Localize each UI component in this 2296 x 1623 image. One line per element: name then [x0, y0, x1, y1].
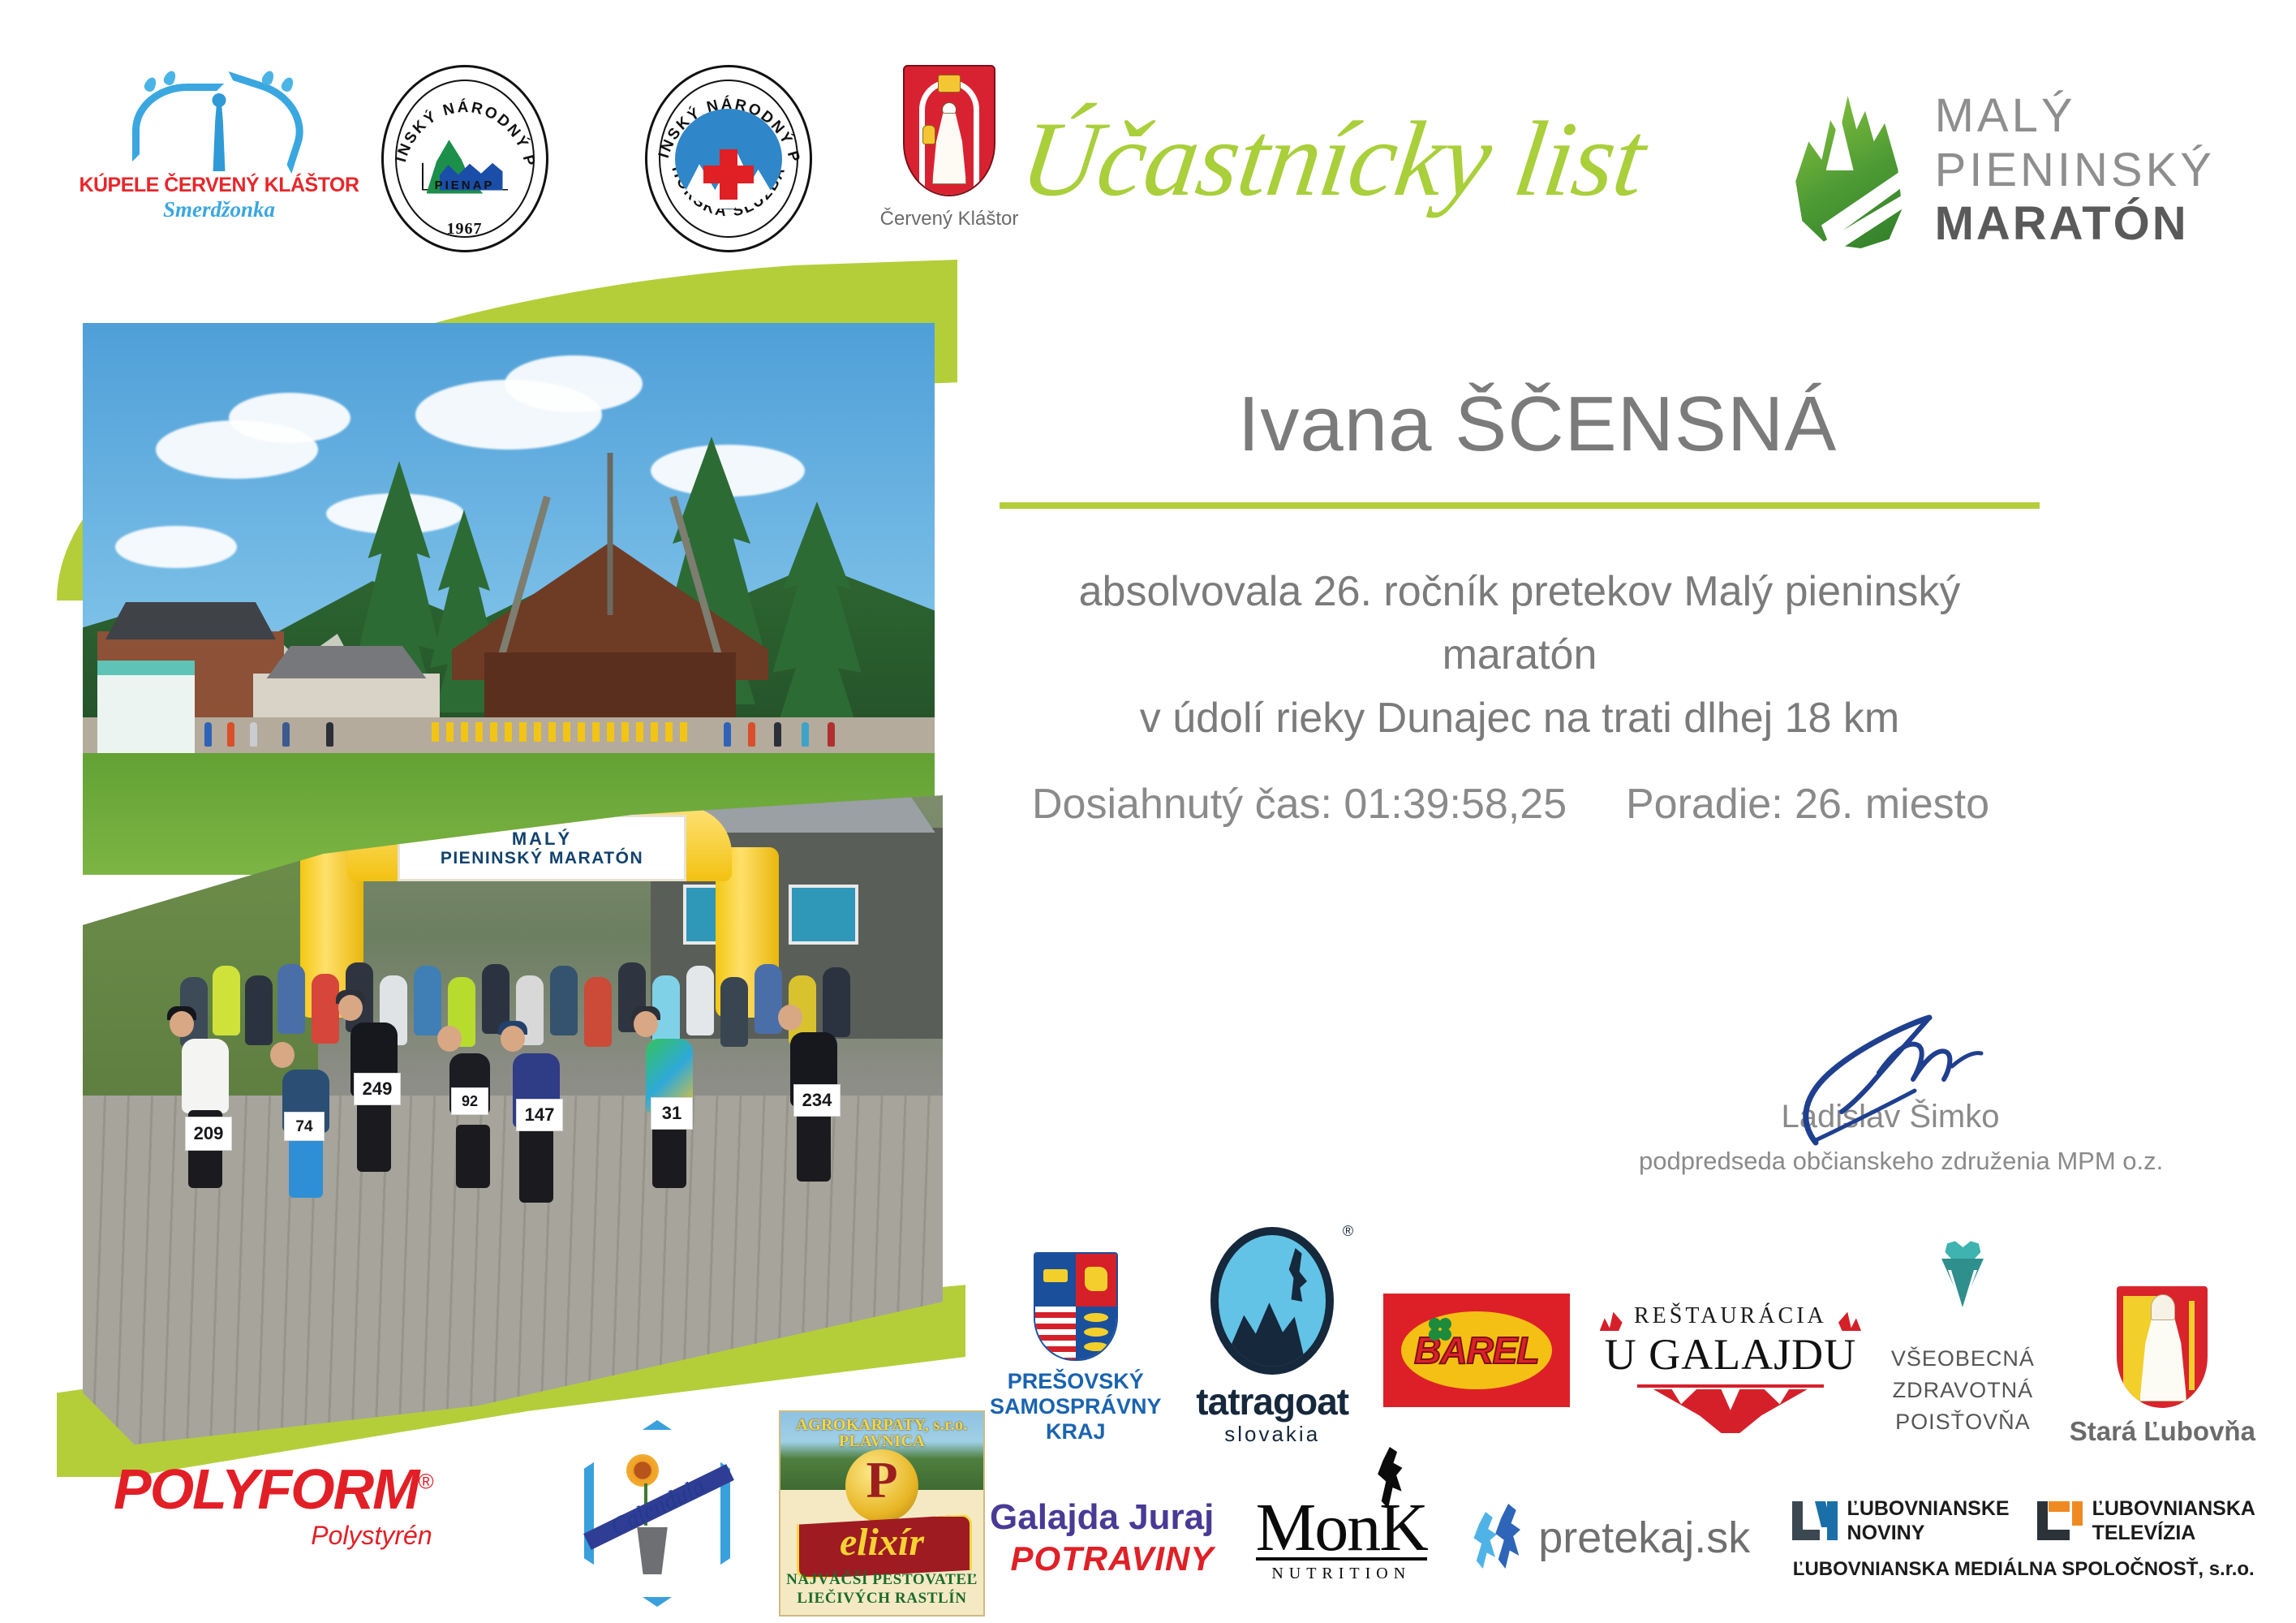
logo-agrokarpaty-elixir: AGROKARPATY, s.r.o. PLAVNICA P elixír NA…	[779, 1410, 985, 1617]
psk-coat-of-arms-icon	[1034, 1252, 1118, 1361]
polyform-wordmark: POLYFORM®	[114, 1461, 432, 1518]
logo-polyform: POLYFORM® Polystyrén	[114, 1461, 432, 1548]
logo-barel: BAREL	[1383, 1294, 1570, 1407]
folk-ornament-icon	[1653, 1389, 1808, 1433]
runner-bib: 31	[651, 1097, 693, 1130]
marigold-flower-icon	[626, 1454, 659, 1487]
lt-line2: TELEVÍZIA	[2092, 1521, 2255, 1545]
logo-lubovnianska-televizia: ĽUBOVNIANSKA TELEVÍZIA	[2037, 1496, 2255, 1545]
lt-line1: ĽUBOVNIANSKA	[2092, 1496, 2255, 1521]
u-galajdu-rule	[1637, 1384, 1824, 1388]
two-runners-icon	[1468, 1504, 1529, 1572]
runner-bib: 234	[793, 1084, 841, 1117]
sponsor-row-secondary: Galajda Juraj POTRAVINY MonK NUTRITION p…	[990, 1469, 2255, 1607]
registered-trademark-icon: ®	[1343, 1224, 1353, 1238]
logo-pieninsky-narodny-park: PIENINSKÝ NÁRODNÝ PARK PIENAP 1967	[377, 65, 552, 252]
arch-banner-line1: MALÝ	[512, 830, 572, 848]
logo-u-galajdu: REŠTAURÁCIA U GALAJDU	[1605, 1305, 1856, 1433]
event-brand-logo: MALÝ PIENINSKÝ MARATÓN	[1784, 89, 2215, 252]
cerveny-klastor-coat-of-arms-icon	[903, 65, 995, 196]
logo-cerveny-klastor-caption: Červený Kláštor	[880, 208, 1019, 230]
pienap-year: 1967	[447, 220, 483, 239]
photo-collage: MALÝ PIENINSKÝ MARATÓN	[65, 260, 941, 1412]
signature-block: Ladislav Šimko podpredseda občianskeho z…	[1639, 1006, 2142, 1176]
logo-kupele-line2: Smerdžonka	[163, 198, 275, 222]
result-summary: Dosiahnutý čas: 01:39:58,25 Poradie: 26.…	[1000, 779, 2070, 829]
sponsor-row-primary: PREŠOVSKÝ SAMOSPRÁVNY KRAJ ® tatragoat s…	[990, 1250, 2255, 1444]
vzp-chevron-heart-icon	[1902, 1241, 2023, 1337]
ln-wordmark: ĽUBOVNIANSKE NOVINY	[1847, 1496, 2010, 1545]
tatragoat-wordmark: tatragoat	[1196, 1383, 1348, 1420]
clover-icon	[1429, 1318, 1451, 1341]
runner-bib: 92	[451, 1087, 488, 1115]
statement-line-1: absolvovala 26. ročník pretekov Malý pie…	[1000, 560, 2040, 687]
agrokarpaty-footer-line1: NAJVÄČŠÍ PESTOVATEĽ	[786, 1571, 978, 1588]
recipient-name: Ivana ŠČENSNÁ	[1022, 381, 2053, 467]
runner-bib: 74	[284, 1112, 325, 1141]
bottom-left-sponsor-logos: POLYFORM® Polystyrén Calendula AGROKARPA…	[105, 1428, 982, 1607]
agrokarpaty-footer: NAJVÄČŠÍ PESTOVATEĽ LIEČIVÝCH RASTLÍN	[780, 1570, 983, 1609]
pretekaj-wordmark: pretekaj.sk	[1538, 1516, 1750, 1560]
vzp-wordmark: VŠEOBECNÁ ZDRAVOTNÁ POISŤOVŇA	[1891, 1343, 2035, 1438]
logo-horska-sluzba: PIENINSKÝ NÁRODNÝ PARK HORSKÁ SLUŽBA	[641, 65, 815, 252]
stara-lubovna-coat-of-arms-icon	[2117, 1286, 2208, 1408]
certificate-statement: absolvovala 26. ročník pretekov Malý pie…	[1000, 560, 2040, 750]
u-galajdu-line2: U GALAJDU	[1605, 1332, 1856, 1376]
logo-tatragoat: ® tatragoat slovakia	[1196, 1227, 1348, 1444]
logo-pretekaj-sk: pretekaj.sk	[1468, 1504, 1750, 1572]
certificate-header: Účastnícky list MALÝ PIENINSKÝ MARATÓN	[1022, 89, 2239, 268]
logo-vseobecna-zdravotna-poistovna: VŠEOBECNÁ ZDRAVOTNÁ POISŤOVŇA	[1891, 1241, 2035, 1438]
u-galajdu-line1: REŠTAURÁCIA	[1634, 1305, 1827, 1328]
lt-wordmark: ĽUBOVNIANSKA TELEVÍZIA	[2092, 1496, 2255, 1545]
mountain-leaf-icon	[1784, 89, 1914, 252]
monk-wordmark: MonK	[1256, 1494, 1427, 1562]
monk-subtitle: NUTRITION	[1271, 1565, 1411, 1582]
logo-lubovnianska-medialna: ĽUBOVNIANSKE NOVINY ĽUBOVNIANSKA TELEVÍZ…	[1792, 1496, 2255, 1579]
lubovnianska-medialna-footer: ĽUBOVNIANSKA MEDIÁLNA SPOLOČNOSŤ, s.r.o.	[1793, 1560, 2255, 1579]
psk-line1: PREŠOVSKÝ	[990, 1369, 1162, 1394]
horska-sluzba-seal-icon: PIENINSKÝ NÁRODNÝ PARK HORSKÁ SLUŽBA	[645, 65, 812, 252]
signatory-role: podpredseda občianskeho združenia MPM o.…	[1639, 1146, 2142, 1176]
agrokarpaty-footer-line2: LIEČIVÝCH RASTLÍN	[797, 1590, 966, 1607]
runner-bib: 147	[516, 1099, 563, 1131]
stara-lubovna-wordmark: Stará Ľubovňa	[2070, 1418, 2255, 1444]
logo-galajda-juraj: Galajda Juraj POTRAVINY	[990, 1500, 1214, 1576]
ln-line2: NOVINY	[1847, 1521, 2010, 1545]
runner-bib: 249	[354, 1073, 401, 1105]
statement-line-2: v údolí rieky Dunajec na trati dlhej 18 …	[1000, 687, 2040, 750]
pienap-badge-label: PIENAP	[422, 179, 508, 192]
barel-badge: BAREL	[1383, 1294, 1570, 1407]
elixir-wordmark: elixír	[797, 1519, 967, 1566]
goat-mountain-icon	[1210, 1227, 1334, 1375]
vzp-line1: VŠEOBECNÁ	[1891, 1343, 2035, 1375]
galajda-line2: POTRAVINY	[1010, 1542, 1214, 1576]
galajda-line1: Galajda Juraj	[990, 1500, 1214, 1535]
brand-line-1: MALÝ	[1935, 92, 2215, 141]
logo-kupele-cerveny-klastor: KÚPELE ČERVENÝ KLÁŠTOR Smerdžonka	[89, 69, 349, 222]
registered-trademark-icon: ®	[418, 1470, 432, 1494]
fountain-figure-icon	[118, 69, 320, 174]
logo-kupele-line1: KÚPELE ČERVENÝ KLÁŠTOR	[79, 174, 359, 196]
rank-value: Poradie: 26. miesto	[1626, 779, 2070, 829]
lt-screen-icon	[2037, 1501, 2083, 1540]
psk-line2: SAMOSPRÁVNY	[990, 1394, 1162, 1419]
arch-banner-line2: PIENINSKÝ MARATÓN	[441, 850, 643, 867]
ln-line1: ĽUBOVNIANSKE	[1847, 1496, 2010, 1521]
page-title: Účastnícky list	[1015, 105, 1651, 213]
vzp-line3: POISŤOVŇA	[1891, 1406, 2035, 1438]
psk-wordmark: PREŠOVSKÝ SAMOSPRÁVNY KRAJ	[990, 1369, 1162, 1444]
title-divider	[1000, 502, 2040, 509]
logo-lubovnianske-noviny: ĽUBOVNIANSKE NOVINY	[1792, 1496, 2010, 1545]
logo-presovsky-samospravny-kraj: PREŠOVSKÝ SAMOSPRÁVNY KRAJ	[990, 1252, 1162, 1444]
pienap-seal-icon: PIENINSKÝ NÁRODNÝ PARK PIENAP 1967	[381, 65, 548, 252]
partner-logos-strip: KÚPELE ČERVENÝ KLÁŠTOR Smerdžonka PIENIN…	[89, 65, 990, 252]
ln-monogram-icon	[1792, 1501, 1838, 1540]
logo-cerveny-klastor: Červený Kláštor	[868, 65, 1030, 230]
brand-line-2: PIENINSKÝ	[1935, 146, 2215, 196]
photo-amphitheatre	[83, 323, 935, 875]
logo-stara-lubovna: Stará Ľubovňa	[2070, 1286, 2255, 1444]
psk-line3: KRAJ	[990, 1419, 1162, 1444]
handwritten-signature-icon	[1639, 1006, 2142, 1136]
brand-line-3: MARATÓN	[1935, 200, 2215, 249]
logo-calendula: Calendula	[584, 1420, 730, 1607]
finish-time-value: Dosiahnutý čas: 01:39:58,25	[1000, 779, 1567, 829]
logo-monk-nutrition: MonK NUTRITION	[1256, 1494, 1427, 1582]
vzp-line2: ZDRAVOTNÁ	[1891, 1375, 2035, 1406]
tatragoat-subtitle: slovakia	[1224, 1423, 1320, 1444]
polyform-subtitle: Polystyrén	[114, 1522, 432, 1548]
agrokarpaty-title: AGROKARPATY, s.r.o. PLAVNICA	[780, 1417, 983, 1449]
runner-bib: 209	[185, 1117, 232, 1151]
